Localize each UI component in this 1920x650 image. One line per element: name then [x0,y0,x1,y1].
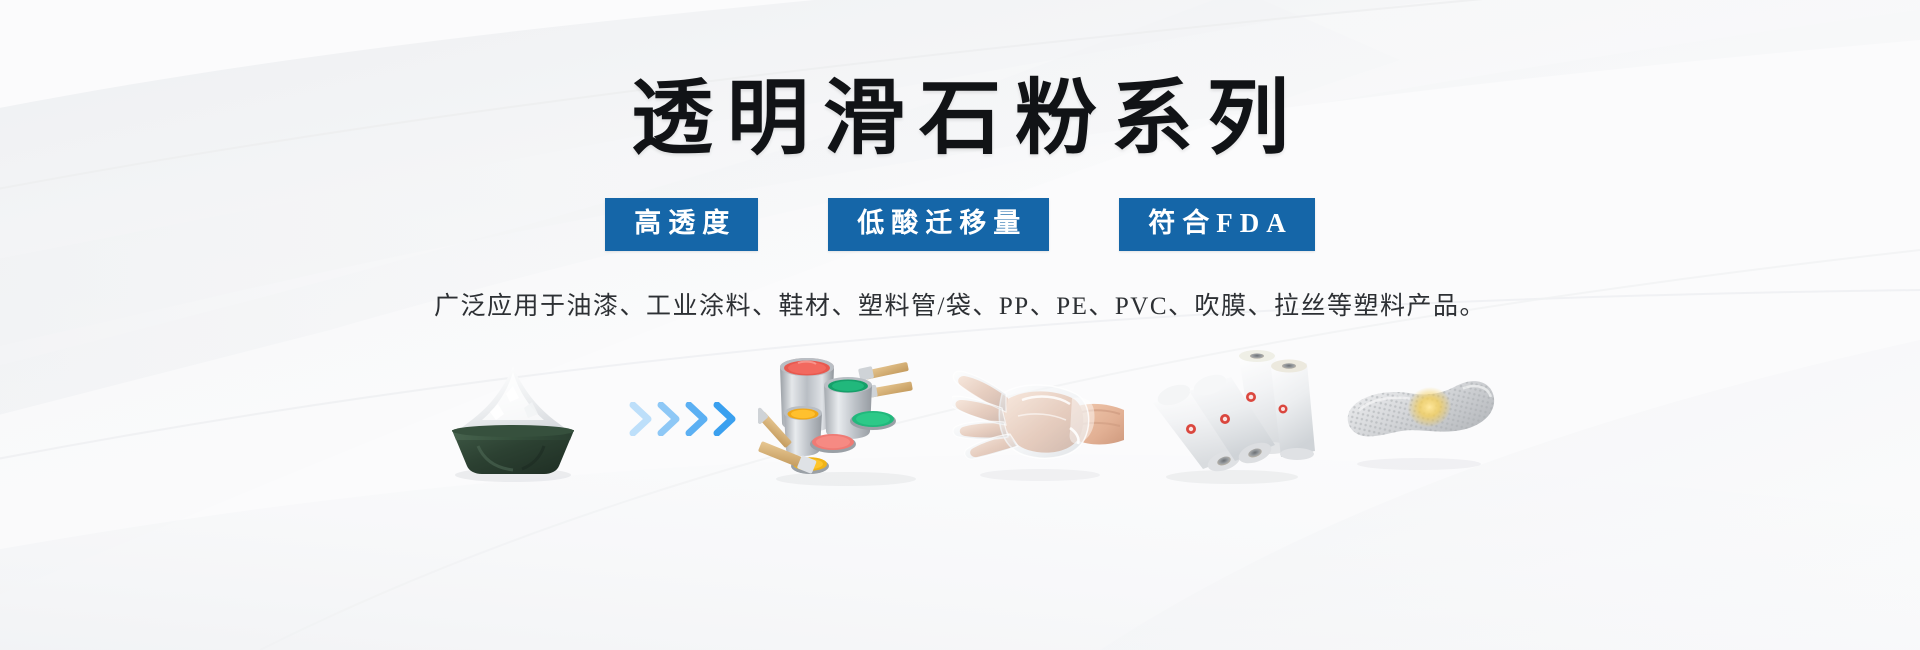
chevron-right-icon-2 [656,402,682,436]
product-banner: 透明滑石粉系列 高透度 低酸迁移量 符合FDA 广泛应用于油漆、工业涂料、鞋材、… [0,0,1920,650]
plastic-glove-overlay [952,371,1095,459]
feature-badge-fda-compliant[interactable]: 符合FDA [1119,198,1315,251]
product-plastic-film-rolls [1147,344,1317,494]
product-pe-glove-hand [952,344,1127,494]
paint-cans-icon [758,349,933,489]
feature-badge-low-acid-migration[interactable]: 低酸迁移量 [828,198,1049,251]
chevron-right-icon-4 [712,402,738,436]
product-application-strip [400,344,1520,494]
paint-can-green [824,377,872,439]
product-paint-cans [758,344,933,494]
feature-badge-high-transparency[interactable]: 高透度 [605,198,758,251]
chevron-right-icon-3 [684,402,710,436]
pe-glove-hand-icon [952,354,1127,484]
chevron-right-icon-1 [628,402,654,436]
plastic-film-rolls-icon [1147,349,1317,489]
banner-content: 透明滑石粉系列 高透度 低酸迁移量 符合FDA 广泛应用于油漆、工业涂料、鞋材、… [0,0,1920,650]
talc-powder-bowl-icon [418,354,608,484]
product-talc-powder-bowl [418,344,608,494]
shoe-sole-icon [1337,364,1502,474]
feature-badge-list: 高透度 低酸迁移量 符合FDA [605,198,1315,251]
product-shoe-sole [1337,344,1502,494]
page-title: 透明滑石粉系列 [617,78,1303,160]
application-description: 广泛应用于油漆、工业涂料、鞋材、塑料管/袋、PP、PE、PVC、吹膜、拉丝等塑料… [434,286,1486,322]
process-arrows [628,344,738,494]
sole-body [1343,366,1500,456]
